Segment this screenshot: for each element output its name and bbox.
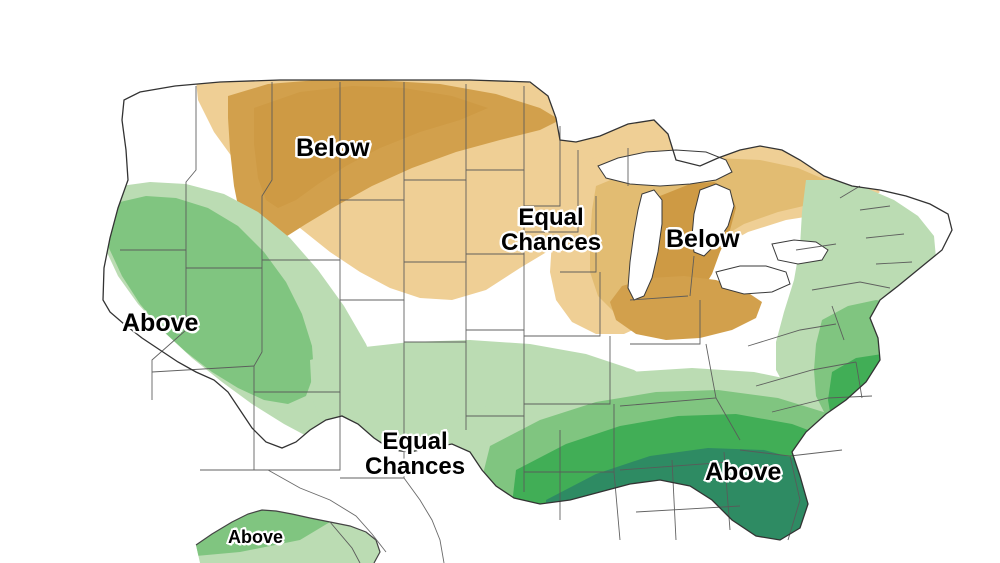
outlook-map-page: NOAA Seasonal Precipitation Outlook Vali… (0, 0, 1000, 563)
precipitation-outlook-map (0, 0, 1000, 563)
